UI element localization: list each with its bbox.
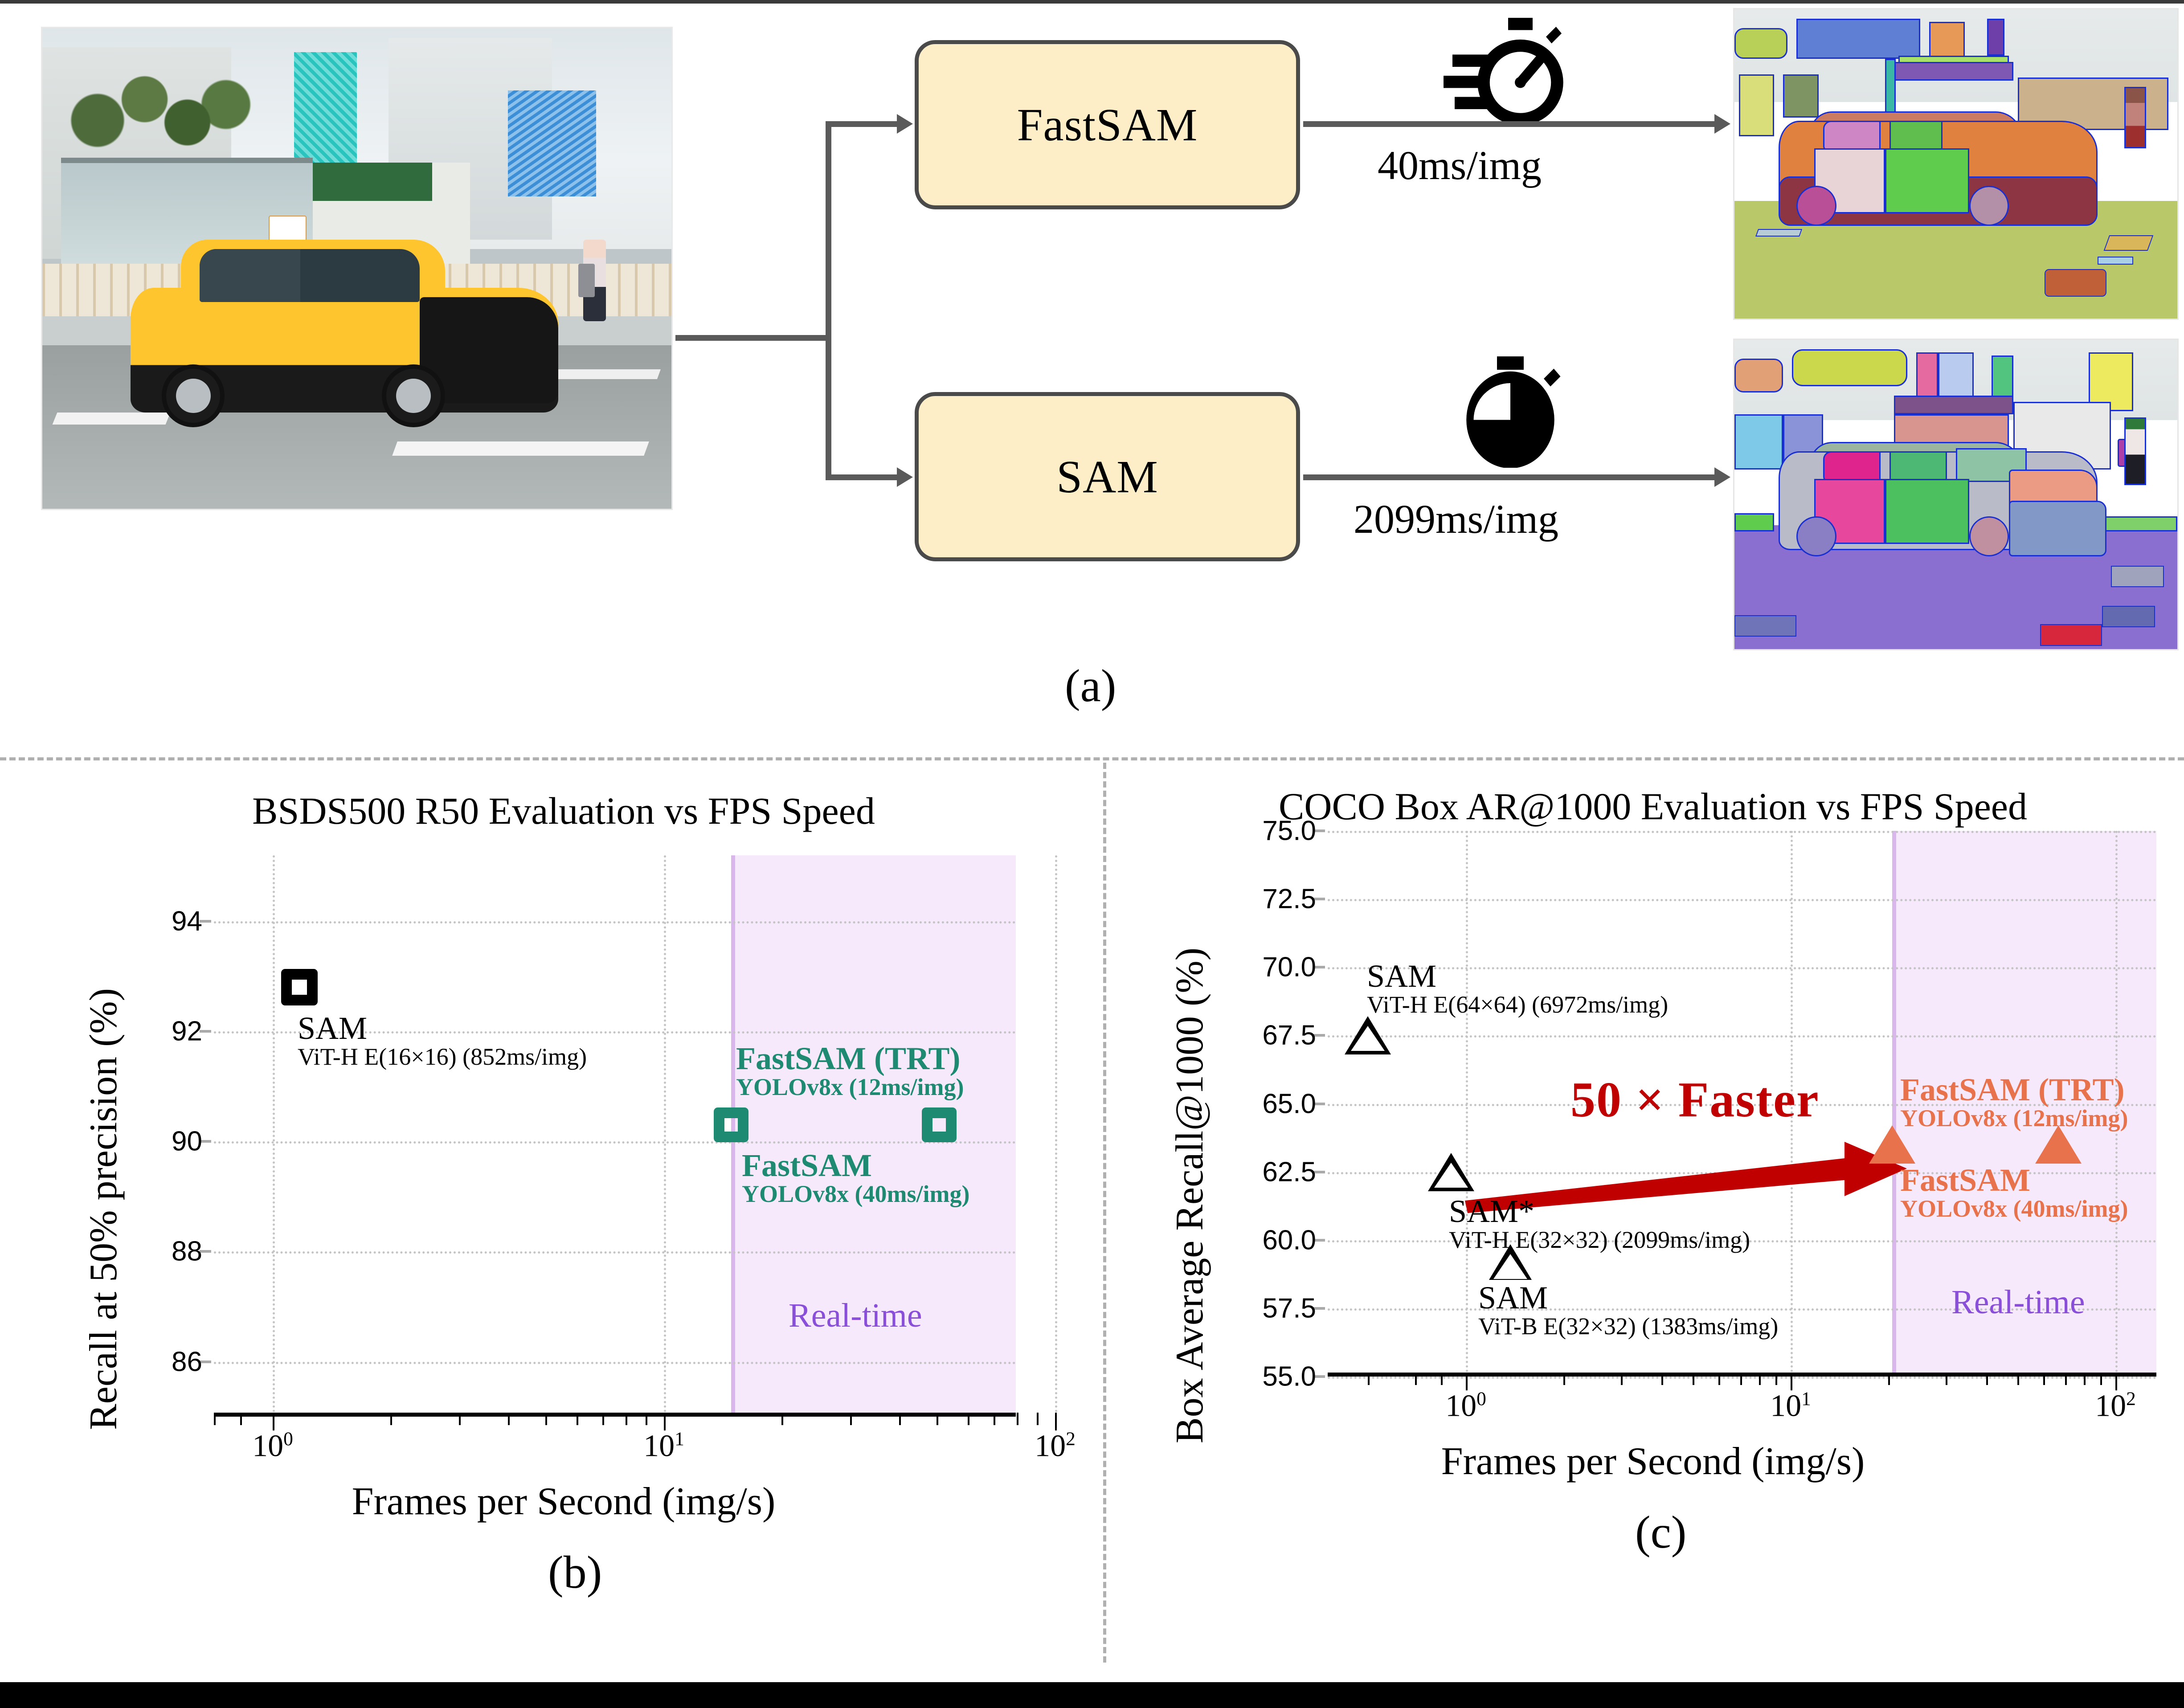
panel-c-letter: (c) (1635, 1506, 1686, 1559)
chart-coco-ylabel: Box Average Recall@1000 (%) (1167, 948, 1212, 1443)
chart-bsds500-ytick-86: 86 (172, 1346, 202, 1377)
chart-coco: COCO Box AR@1000 Evaluation vs FPS Speed… (1132, 775, 2174, 1622)
chart-bsds500-xtick-2: 101 (643, 1428, 684, 1464)
chart-bsds500-annotation-fastsam-trt: FastSAM (TRT) YOLOv8x (12ms/img) (736, 1042, 964, 1100)
chart-coco-ytick-55: 55.0 (1262, 1361, 1316, 1393)
chart-coco-annotation-fastsam-trt: FastSAM (TRT) YOLOv8x (12ms/img) (1900, 1074, 2128, 1131)
chart-bsds500-realtime-label: Real-time (789, 1296, 922, 1335)
chart-coco-ytick-60: 60.0 (1262, 1224, 1316, 1256)
chart-bsds500-point-fastsam[interactable] (714, 1107, 748, 1142)
chart-coco-xtick-2: 101 (1770, 1388, 1811, 1424)
process-box-sam-label: SAM (1056, 450, 1158, 503)
chart-coco-ytick-62.5: 62.5 (1262, 1156, 1316, 1188)
chart-coco-annotation-sam-vith64: SAM ViT-H E(64×64) (6972ms/img) (1367, 960, 1668, 1017)
process-box-sam[interactable]: SAM (915, 392, 1300, 561)
arrowhead-to-fastsam (897, 114, 913, 134)
arrowhead-fastsam-output (1714, 114, 1730, 134)
process-box-fastsam[interactable]: FastSAM (915, 40, 1300, 209)
chart-bsds500-ytick-94: 94 (172, 906, 202, 937)
chart-coco-speedup-label: 50 × Faster (1571, 1071, 1820, 1129)
chart-bsds500-plot: 86 88 90 92 94 (214, 855, 1016, 1417)
panel-a-letter: (a) (1065, 659, 1116, 712)
chart-bsds500-xtick-3: 102 (1035, 1428, 1076, 1464)
slow-stopwatch-icon (1450, 356, 1571, 468)
panel-b-letter: (b) (548, 1546, 602, 1599)
panel-divider-horizontal (0, 757, 2184, 760)
connector-sam-output (1303, 474, 1718, 480)
chart-coco-point-sam-vith64[interactable] (1345, 1016, 1391, 1054)
chart-coco-xlabel: Frames per Second (img/s) (1132, 1439, 2174, 1484)
chart-coco-ytick-70: 70.0 (1262, 952, 1316, 983)
sam-latency-label: 2099ms/img (1354, 495, 1558, 543)
chart-coco-xtick-1: 100 (1445, 1388, 1486, 1424)
arrowhead-sam-output (1714, 467, 1730, 487)
chart-bsds500-ylabel: Recall at 50% precision (%) (81, 988, 126, 1430)
chart-coco-point-sam-star[interactable] (1428, 1153, 1474, 1191)
chart-coco-ytick-57.5: 57.5 (1262, 1292, 1316, 1324)
chart-coco-annotation-fastsam: FastSAM YOLOv8x (40ms/img) (1900, 1164, 2128, 1222)
chart-coco-xtick-3: 102 (2095, 1388, 2136, 1424)
pipeline-panel: FastSAM SAM (0, 0, 2184, 757)
connector-to-fastsam (826, 121, 899, 127)
chart-coco-annotation-sam-vitb: SAM ViT-B E(32×32) (1383ms/img) (1478, 1282, 1778, 1339)
chart-bsds500-xlabel: Frames per Second (img/s) (53, 1479, 1074, 1524)
panel-divider-vertical (1103, 763, 1106, 1663)
connector-to-sam (826, 474, 899, 480)
chart-bsds500-annotation-fastsam: FastSAM YOLOv8x (40ms/img) (742, 1149, 969, 1207)
chart-coco-plot: 55.0 57.5 60.0 62.5 65.0 67.5 70.0 72.5 … (1328, 831, 2156, 1377)
chart-bsds500-title: BSDS500 R50 Evaluation vs FPS Speed (53, 789, 1074, 833)
chart-bsds500-xtick-1: 100 (252, 1428, 293, 1464)
process-box-fastsam-label: FastSAM (1017, 98, 1198, 151)
arrowhead-to-sam (897, 467, 913, 487)
connector-fastsam-output (1303, 121, 1718, 127)
fast-stopwatch-icon (1421, 18, 1568, 134)
connector-trunk (675, 335, 831, 341)
connector-vertical (826, 124, 831, 480)
chart-bsds500-ytick-88: 88 (172, 1236, 202, 1267)
chart-bsds500-point-sam[interactable] (281, 969, 318, 1005)
chart-bsds500-annotation-sam: SAM ViT-H E(16×16) (852ms/img) (298, 1012, 587, 1070)
chart-coco-ytick-65: 65.0 (1262, 1088, 1316, 1120)
sam-output-image (1733, 339, 2179, 650)
figure-root: FastSAM SAM (0, 0, 2184, 1708)
chart-coco-realtime-label: Real-time (1951, 1283, 2085, 1322)
chart-bsds500: BSDS500 R50 Evaluation vs FPS Speed Reca… (53, 775, 1074, 1622)
chart-bsds500-ytick-92: 92 (172, 1016, 202, 1047)
fastsam-latency-label: 40ms/img (1378, 142, 1542, 189)
chart-bsds500-ytick-90: 90 (172, 1126, 202, 1157)
input-photo (41, 27, 673, 510)
chart-coco-ytick-75: 75.0 (1262, 815, 1316, 847)
chart-coco-point-sam-vitb[interactable] (1489, 1244, 1532, 1280)
chart-coco-ytick-67.5: 67.5 (1262, 1020, 1316, 1051)
bottom-border (0, 1682, 2184, 1708)
fastsam-output-image (1733, 8, 2179, 320)
chart-bsds500-point-fastsam-trt[interactable] (922, 1107, 957, 1142)
chart-coco-ytick-72.5: 72.5 (1262, 883, 1316, 915)
